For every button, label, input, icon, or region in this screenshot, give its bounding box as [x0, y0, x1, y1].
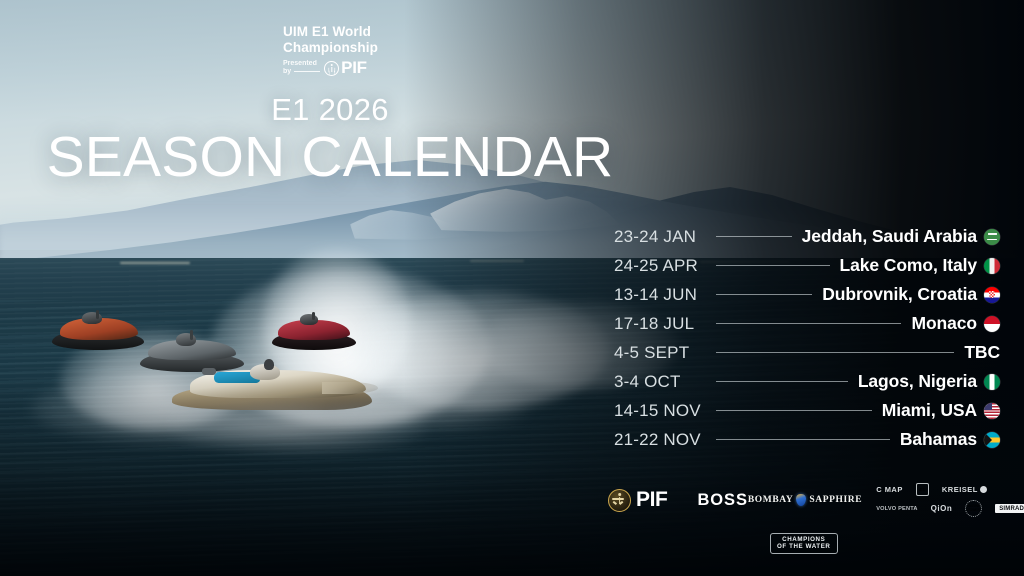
presented-label: Presented: [283, 60, 320, 68]
presented-by-lockup: Presented by PIF: [283, 58, 443, 78]
sponsor-e1-icon[interactable]: E1: [916, 483, 929, 496]
sapphire-word: SAPPHIRE: [809, 495, 862, 505]
champions-of-the-water-badge: CHAMPIONS OF THE WATER: [770, 533, 838, 554]
c-map-label: C MAP: [876, 485, 903, 494]
partner-logo-grid: C MAP E1 KREISEL VOLVO PENTA QiOn MARINE…: [876, 483, 1024, 517]
championship-logo-lockup: UIM E1 World Championship Presented by P…: [283, 24, 443, 78]
croatia-flag-icon: [984, 287, 1000, 303]
row-connector: [716, 381, 848, 382]
race-date: 17-18 JUL: [614, 314, 706, 334]
saudi-arabia-flag-icon: [984, 229, 1000, 245]
sponsor-qion[interactable]: QiOn: [931, 504, 953, 513]
sponsor-volvo-penta[interactable]: VOLVO PENTA: [876, 506, 917, 512]
calendar-row[interactable]: 17-18 JUL Monaco: [614, 309, 1000, 338]
kreisel-dot-icon: [980, 486, 987, 493]
badge-line-1: CHAMPIONS: [777, 536, 831, 543]
pif-wordmark: PIF: [341, 58, 367, 78]
season-calendar-poster: UIM E1 World Championship Presented by P…: [0, 0, 1024, 576]
nigeria-flag-icon: [984, 374, 1000, 390]
sponsor-boss[interactable]: BOSS: [697, 491, 747, 510]
pif-sponsor-wordmark: PIF: [636, 488, 667, 512]
logo-line-2: Championship: [283, 40, 443, 56]
race-date: 3-4 OCT: [614, 372, 706, 392]
race-location: TBC: [964, 342, 1000, 363]
sapphire-gem-icon: [796, 494, 806, 506]
row-connector: [716, 236, 792, 237]
race-location: Dubrovnik, Croatia: [822, 284, 977, 305]
race-location: Lagos, Nigeria: [858, 371, 977, 392]
bombay-word: BOMBAY: [748, 495, 793, 505]
monaco-flag-icon: [984, 316, 1000, 332]
presented-by-rule: [294, 71, 320, 72]
horizon-glint-1: [120, 262, 190, 264]
logo-line-1: UIM E1 World: [283, 24, 443, 40]
calendar-row[interactable]: 13-14 JUN Dubrovnik, Croatia: [614, 280, 1000, 309]
race-location: Jeddah, Saudi Arabia: [802, 226, 977, 247]
row-connector: [716, 265, 830, 266]
sponsor-c-map[interactable]: C MAP: [876, 485, 903, 494]
italy-flag-icon: [984, 258, 1000, 274]
by-label: by: [283, 68, 291, 76]
sponsor-kreisel[interactable]: KREISEL: [942, 485, 987, 494]
page-title: SEASON CALENDAR: [0, 126, 660, 188]
usa-flag-icon: [984, 403, 1000, 419]
row-connector: [716, 352, 954, 353]
sponsor-marine-power[interactable]: MARINE POWER: [965, 500, 982, 517]
pif-emblem-gold-icon: [608, 489, 631, 512]
row-connector: [716, 294, 812, 295]
sponsor-pif[interactable]: PIF: [608, 488, 667, 512]
badge-line-2: OF THE WATER: [777, 543, 831, 550]
race-date: 13-14 JUN: [614, 285, 706, 305]
race-date: 4-5 SEPT: [614, 343, 706, 363]
calendar-row[interactable]: 24-25 APR Lake Como, Italy: [614, 251, 1000, 280]
race-location: Lake Como, Italy: [840, 255, 977, 276]
race-location: Miami, USA: [882, 400, 977, 421]
e1-mark-label: E1: [920, 487, 926, 492]
partner-row-top: C MAP E1 KREISEL: [876, 483, 1024, 496]
calendar-row[interactable]: 4-5 SEPT TBC: [614, 338, 1000, 367]
race-date: 21-22 NOV: [614, 430, 706, 450]
kreisel-label: KREISEL: [942, 485, 978, 494]
pif-emblem-icon: [324, 61, 339, 76]
sponsor-simrad[interactable]: SIMRAD: [995, 504, 1024, 513]
row-connector: [716, 439, 890, 440]
partner-row-bottom: VOLVO PENTA QiOn MARINE POWER SIMRAD: [876, 500, 1024, 517]
calendar-row[interactable]: 21-22 NOV Bahamas: [614, 425, 1000, 454]
powerboat-left: [52, 310, 148, 356]
sponsor-bombay-sapphire[interactable]: BOMBAY SAPPHIRE: [748, 494, 862, 506]
calendar-list: 23-24 JAN Jeddah, Saudi Arabia 24-25 APR…: [614, 222, 1000, 454]
calendar-row[interactable]: 3-4 OCT Lagos, Nigeria: [614, 367, 1000, 396]
race-date: 24-25 APR: [614, 256, 706, 276]
powerboat-right: [272, 312, 360, 356]
bahamas-flag-icon: [984, 432, 1000, 448]
pif-logo-small: PIF: [324, 58, 367, 78]
calendar-row[interactable]: 14-15 NOV Miami, USA: [614, 396, 1000, 425]
calendar-row[interactable]: 23-24 JAN Jeddah, Saudi Arabia: [614, 222, 1000, 251]
race-date: 14-15 NOV: [614, 401, 706, 421]
title-eyebrow: E1 2026: [0, 92, 660, 128]
race-date: 23-24 JAN: [614, 227, 706, 247]
row-connector: [716, 323, 901, 324]
row-connector: [716, 410, 872, 411]
race-location: Monaco: [911, 313, 977, 334]
sponsor-bar: PIF BOSS BOMBAY SAPPHIRE C MAP E1 KREISE…: [608, 478, 1006, 522]
race-location: Bahamas: [900, 429, 977, 450]
